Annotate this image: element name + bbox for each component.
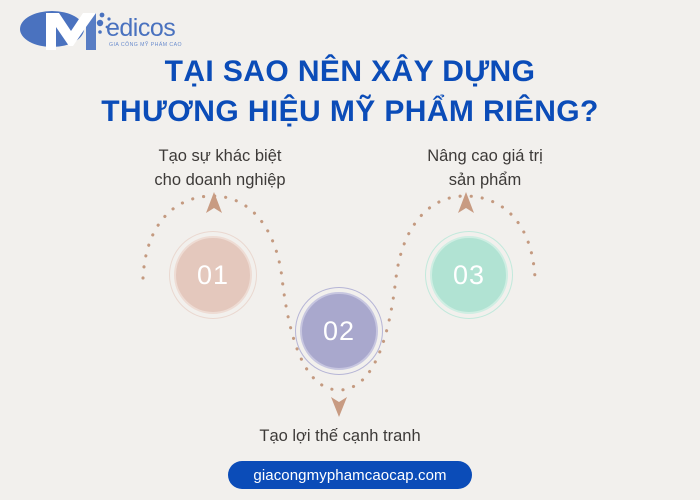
step-label-02: Tạo lợi thế cạnh tranh (220, 424, 460, 448)
arrow-up-step-1-icon (206, 192, 222, 213)
step-number-03: 03 (453, 260, 485, 291)
website-url-text: giacongmyphamcaocap.com (253, 467, 446, 484)
step-circle-02[interactable]: 02 (300, 292, 378, 370)
arrow-down-step-2-icon (331, 397, 347, 417)
website-url-button[interactable]: giacongmyphamcaocap.com (228, 461, 472, 489)
step-number-02: 02 (323, 316, 355, 347)
step-circle-03[interactable]: 03 (430, 236, 508, 314)
step-label-01: Tạo sự khác biệt cho doanh nghiệp (120, 144, 320, 192)
step-circle-01[interactable]: 01 (174, 236, 252, 314)
step-number-01: 01 (197, 260, 229, 291)
infographic-canvas: edicos GIA CÔNG MỸ PHẨM CAO CẤP TẠI SAO … (0, 0, 700, 500)
step-label-03: Nâng cao giá trị sản phẩm (385, 144, 585, 192)
